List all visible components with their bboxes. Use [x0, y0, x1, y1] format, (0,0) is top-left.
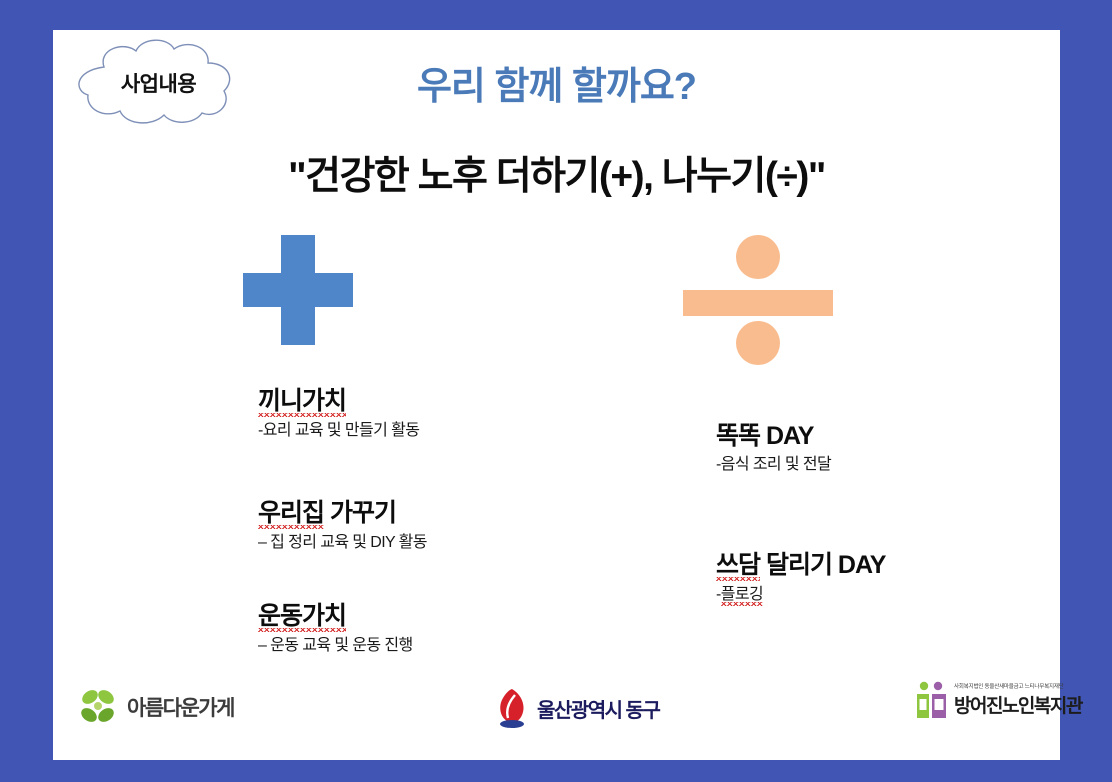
page-title: 우리 함께 할까요? — [53, 55, 1060, 110]
item-description: – 집 정리 교육 및 DIY 활동 — [258, 533, 427, 554]
flower-icon — [75, 684, 121, 730]
item-description: -플로깅 — [716, 585, 885, 607]
list-item: 우리집 가꾸기 – 집 정리 교육 및 DIY 활동 — [258, 500, 427, 553]
logo-sublabel: 사회복지법인 동울산새마을금고 느티나무복지재단 — [954, 682, 1082, 690]
item-description: -요리 교육 및 만들기 활동 — [258, 421, 419, 442]
list-item: 똑똑 DAY -음식 조리 및 전달 — [716, 423, 831, 475]
item-description: – 운동 교육 및 운동 진행 — [258, 636, 413, 657]
logo-bangeojin-welfare-center: 사회복지법인 동울산새마을금고 느티나무복지재단 방어진노인복지관 — [915, 680, 1082, 720]
item-title-rest: 달리기 DAY — [760, 551, 885, 579]
plus-icon — [243, 235, 353, 345]
spellcheck-underline: 쓰담 — [716, 552, 760, 581]
slide-panel: 사업내용 우리 함께 할까요? "건강한 노후 더하기(+), 나누기(÷)" … — [53, 30, 1060, 760]
logo-label: 아름다운가게 — [127, 692, 234, 722]
divide-icon — [683, 235, 833, 365]
list-item: 운동가치 – 운동 교육 및 운동 진행 — [258, 603, 413, 656]
item-title: 끼니가치 — [258, 388, 419, 417]
item-title: 쓰담 달리기 DAY — [716, 552, 885, 581]
list-item: 쓰담 달리기 DAY -플로깅 — [716, 552, 885, 606]
footer-logos: 아름다운가게 울산광역시 동구 — [53, 678, 1060, 760]
spellcheck-underline: 끼니가치 — [258, 388, 346, 417]
list-item: 끼니가치 -요리 교육 및 만들기 활동 — [258, 388, 419, 441]
item-description: -음식 조리 및 전달 — [716, 455, 831, 476]
item-title-rest: 가꾸기 — [324, 499, 396, 527]
ulsan-emblem-icon — [493, 686, 531, 730]
logo-beautiful-store: 아름다운가게 — [75, 684, 234, 730]
spellcheck-underline: 플로깅 — [721, 585, 763, 607]
slide-root: 사업내용 우리 함께 할까요? "건강한 노후 더하기(+), 나누기(÷)" … — [0, 0, 1112, 782]
logo-label: 방어진노인복지관 — [954, 691, 1082, 718]
page-subtitle: "건강한 노후 더하기(+), 나누기(÷)" — [53, 145, 1060, 201]
logo-ulsan-donggu: 울산광역시 동구 — [493, 686, 659, 730]
item-title: 우리집 가꾸기 — [258, 500, 427, 529]
spellcheck-underline: 운동가치 — [258, 603, 346, 632]
item-title: 운동가치 — [258, 603, 413, 632]
logo-label: 울산광역시 동구 — [537, 694, 659, 723]
item-title: 똑똑 DAY — [716, 423, 831, 451]
welfare-center-icon — [915, 680, 949, 720]
logo-text-block: 사회복지법인 동울산새마을금고 느티나무복지재단 방어진노인복지관 — [954, 682, 1082, 718]
spellcheck-underline: 우리집 — [258, 500, 324, 529]
